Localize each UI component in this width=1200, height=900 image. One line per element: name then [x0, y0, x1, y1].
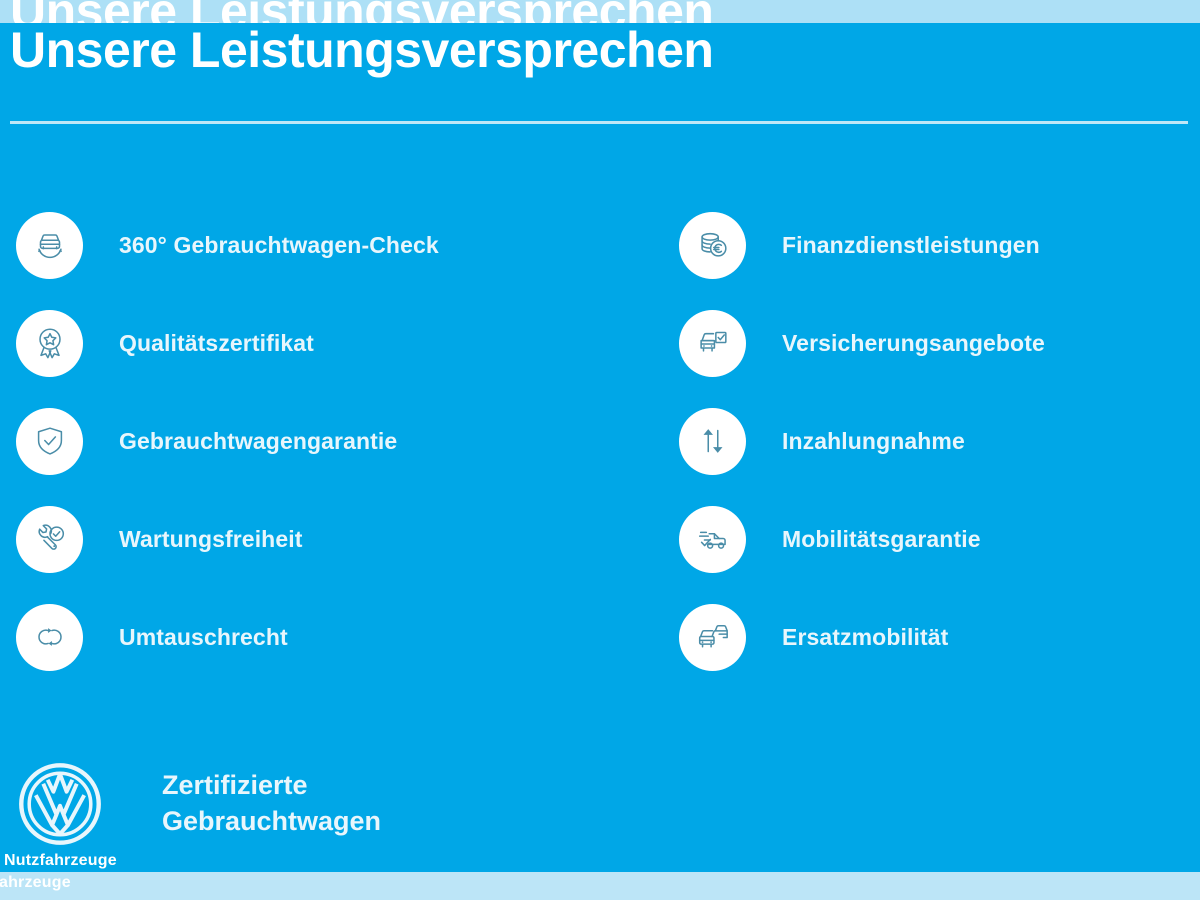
promise-item[interactable]: Finanzdienstleistungen: [679, 196, 1045, 294]
ghost-page-title: Unsere Leistungsversprechen: [10, 0, 713, 23]
ghost-sub-brand-label: Nutzfahrzeuge: [0, 874, 71, 892]
car-360-check-icon: [16, 212, 83, 279]
coins-euro-icon: [679, 212, 746, 279]
promise-column-left: 360° Gebrauchtwagen-Check Qualitätszerti…: [16, 196, 439, 686]
promise-label: Versicherungsangebote: [782, 330, 1045, 357]
brand-text-line-2: Gebrauchtwagen: [162, 804, 381, 840]
promise-column-right: Finanzdienstleistungen Versicheru: [679, 196, 1045, 686]
car-checkbox-icon: [679, 310, 746, 377]
car-speed-check-icon: [679, 506, 746, 573]
promise-item[interactable]: Wartungsfreiheit: [16, 490, 439, 588]
title-divider: [10, 121, 1188, 124]
promise-item[interactable]: Umtauschrecht: [16, 588, 439, 686]
promise-item[interactable]: Ersatzmobilität: [679, 588, 1045, 686]
promise-label: Finanzdienstleistungen: [782, 232, 1040, 259]
brand-text: Zertifizierte Gebrauchtwagen: [162, 768, 381, 839]
exchange-arrows-icon: [16, 604, 83, 671]
promise-item[interactable]: Qualitätszertifikat: [16, 294, 439, 392]
sub-brand-label: Nutzfahrzeuge: [4, 852, 117, 870]
promise-label: Gebrauchtwagengarantie: [119, 428, 397, 455]
promise-item[interactable]: 360° Gebrauchtwagen-Check: [16, 196, 439, 294]
two-cars-icon: [679, 604, 746, 671]
shield-check-icon: [16, 408, 83, 475]
promise-label: Wartungsfreiheit: [119, 526, 302, 553]
promise-item[interactable]: Gebrauchtwagengarantie: [16, 392, 439, 490]
slide-canvas: Unsere Leistungsversprechen Unsere Leist…: [0, 0, 1200, 900]
promise-label: Mobilitätsgarantie: [782, 526, 981, 553]
volkswagen-logo-icon: [16, 760, 104, 848]
promise-label: Ersatzmobilität: [782, 624, 948, 651]
promise-label: Umtauschrecht: [119, 624, 288, 651]
promise-label: Inzahlungnahme: [782, 428, 965, 455]
bottom-overflow-band: Nutzfahrzeuge: [0, 872, 1200, 900]
arrows-up-down-icon: [679, 408, 746, 475]
promise-item[interactable]: Versicherungsangebote: [679, 294, 1045, 392]
page-title: Unsere Leistungsversprechen: [10, 22, 713, 80]
promise-label: 360° Gebrauchtwagen-Check: [119, 232, 439, 259]
brand-lockup: Zertifizierte Gebrauchtwagen: [16, 760, 381, 848]
promise-label: Qualitätszertifikat: [119, 330, 314, 357]
wrench-check-icon: [16, 506, 83, 573]
brand-text-line-1: Zertifizierte: [162, 768, 381, 804]
promise-item[interactable]: Inzahlungnahme: [679, 392, 1045, 490]
award-rosette-icon: [16, 310, 83, 377]
top-overflow-band: Unsere Leistungsversprechen: [0, 0, 1200, 23]
promise-item[interactable]: Mobilitätsgarantie: [679, 490, 1045, 588]
